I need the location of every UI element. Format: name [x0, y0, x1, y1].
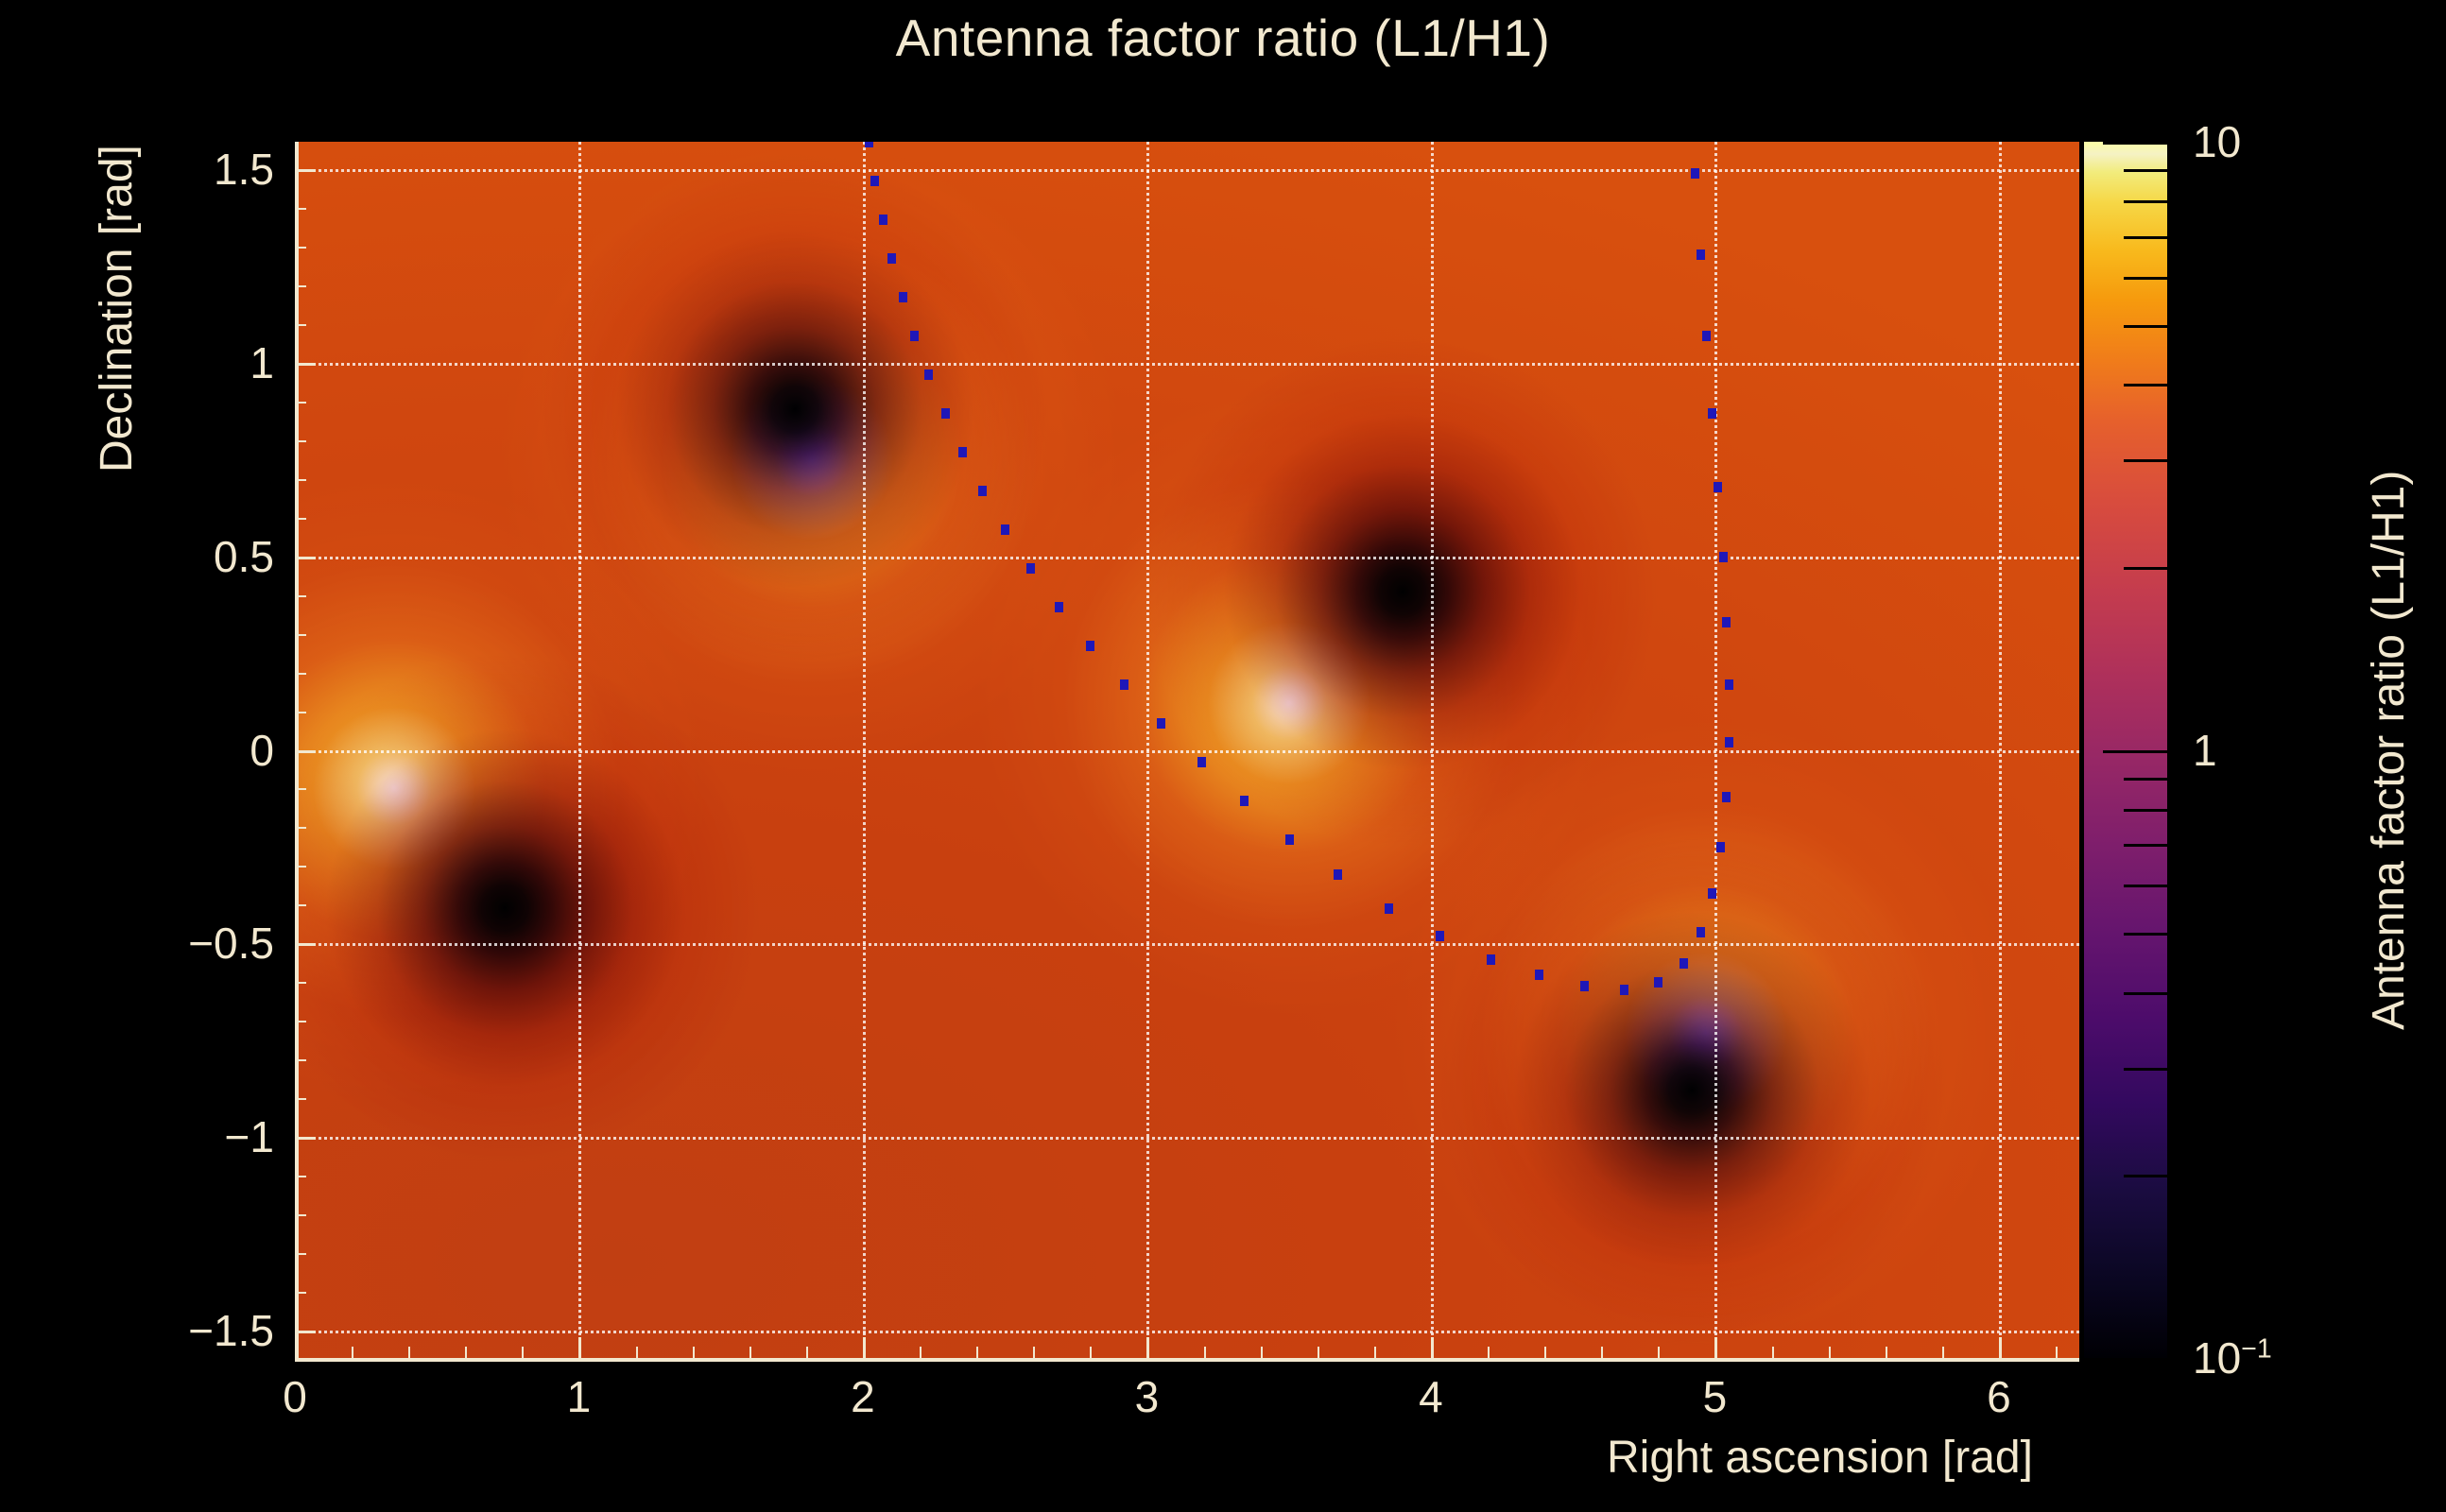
curve-point: [1691, 168, 1699, 179]
curve-point: [1157, 718, 1165, 729]
x-tick-minor: [1886, 1347, 1887, 1358]
colorbar-tick-minor: [2124, 992, 2167, 995]
x-tick-minor: [465, 1347, 467, 1358]
x-tick-minor: [1942, 1347, 1944, 1358]
y-tick-major: [295, 1137, 316, 1140]
y-tick-minor: [295, 247, 306, 249]
curve-point: [1722, 617, 1731, 627]
x-tick-minor: [976, 1347, 978, 1358]
curve-point: [1580, 981, 1589, 991]
x-tick-minor: [1658, 1347, 1660, 1358]
curve-point: [924, 369, 933, 380]
y-tick-minor: [295, 595, 306, 597]
x-tick-minor: [352, 1347, 353, 1358]
colorbar-tick-minor: [2124, 236, 2167, 239]
y-tick-minor: [295, 1253, 306, 1255]
y-tick-minor: [295, 402, 306, 404]
curve-point: [958, 447, 967, 457]
x-tick-minor: [1261, 1347, 1263, 1358]
x-tick-minor: [1033, 1347, 1035, 1358]
x-tick-minor: [1544, 1347, 1546, 1358]
curve-point: [1654, 977, 1662, 988]
y-tick-minor: [295, 673, 306, 675]
x-tick-label: 1: [567, 1371, 592, 1422]
x-tick-minor: [1318, 1347, 1319, 1358]
colorbar-tick-minor: [2124, 1175, 2167, 1177]
plot-canvas: Antenna factor ratio (L1/H1) 0123456−1.5…: [0, 0, 2446, 1512]
curve-point: [1385, 903, 1393, 914]
colorbar-tick-minor: [2124, 567, 2167, 570]
colorbar-tick-minor: [2124, 459, 2167, 462]
colorbar-label-bottom: 10−1: [2193, 1332, 2272, 1383]
y-tick-minor: [295, 1098, 306, 1100]
curve-point: [1055, 602, 1063, 612]
x-tick-minor: [1829, 1347, 1831, 1358]
y-tick-minor: [295, 866, 306, 868]
curve-point: [870, 176, 879, 186]
y-tick-minor: [295, 285, 306, 287]
y-tick-major: [295, 169, 316, 172]
y-tick-minor: [295, 1176, 306, 1177]
y-tick-label: −0.5: [151, 918, 274, 969]
curve-point: [887, 253, 896, 264]
curve-point: [1702, 331, 1711, 341]
curve-point: [1197, 757, 1206, 767]
curve-point: [1620, 985, 1628, 995]
x-tick-label: 5: [1703, 1371, 1728, 1422]
curve-point: [1001, 524, 1009, 535]
y-tick-major: [295, 363, 316, 366]
x-tick-minor: [1772, 1347, 1774, 1358]
x-tick-label: 2: [851, 1371, 875, 1422]
curve-point: [1436, 931, 1444, 941]
y-tick-label: −1.5: [151, 1305, 274, 1356]
curve-point: [1086, 641, 1094, 651]
x-tick-major: [1714, 1337, 1717, 1358]
x-tick-label: 6: [1987, 1371, 2011, 1422]
x-tick-minor: [2056, 1347, 2058, 1358]
curve-point: [910, 331, 919, 341]
x-tick-major: [1999, 1337, 2002, 1358]
x-tick-minor: [920, 1347, 922, 1358]
x-tick-minor: [693, 1347, 695, 1358]
y-tick-major: [295, 943, 316, 946]
x-tick-minor: [749, 1347, 751, 1358]
curve-point: [941, 408, 950, 419]
curve-point: [1708, 888, 1716, 899]
curve-point: [1725, 679, 1733, 690]
x-tick-major: [295, 1337, 298, 1358]
x-tick-minor: [1090, 1347, 1092, 1358]
x-tick-major: [1146, 1337, 1149, 1358]
x-tick-minor: [806, 1347, 808, 1358]
x-tick-minor: [1374, 1347, 1376, 1358]
y-tick-major: [295, 750, 316, 753]
colorbar-label-mid: 1: [2193, 725, 2217, 776]
y-tick-minor: [295, 518, 306, 520]
x-tick-minor: [522, 1347, 524, 1358]
y-tick-minor: [295, 1021, 306, 1022]
colorbar-label-top: 10: [2193, 116, 2241, 167]
y-tick-minor: [295, 324, 306, 326]
y-tick-label: −1: [151, 1111, 274, 1162]
curve-point: [1487, 954, 1495, 965]
curve-point: [1722, 792, 1731, 802]
colorbar-tick-minor: [2124, 325, 2167, 328]
curve-point: [1026, 563, 1035, 574]
colorbar-tick-minor: [2124, 169, 2167, 172]
colorbar-tick-major: [2103, 142, 2167, 145]
colorbar-tick-minor: [2124, 844, 2167, 847]
x-tick-minor: [1488, 1347, 1490, 1358]
x-axis-line: [295, 1358, 2079, 1362]
x-tick-label: 4: [1419, 1371, 1443, 1422]
y-tick-minor: [295, 982, 306, 984]
y-tick-minor: [295, 479, 306, 481]
x-tick-minor: [408, 1347, 410, 1358]
x-tick-major: [863, 1337, 866, 1358]
colorbar-tick-minor: [2124, 778, 2167, 781]
colorbar-title: Antenna factor ratio (L1/H1): [2363, 471, 2415, 1030]
x-tick-major: [578, 1337, 581, 1358]
y-tick-minor: [295, 788, 306, 790]
curve-point: [1285, 834, 1294, 845]
colorbar-tick-major: [2103, 1358, 2167, 1361]
curve-point: [1535, 970, 1543, 980]
colorbar-tick-minor: [2124, 384, 2167, 387]
page-title: Antenna factor ratio (L1/H1): [0, 8, 2446, 68]
y-tick-minor: [295, 1214, 306, 1216]
galactic-plane-curve: [295, 142, 2079, 1358]
y-tick-major: [295, 1331, 316, 1333]
y-tick-minor: [295, 634, 306, 636]
colorbar-tick-minor: [2124, 885, 2167, 887]
y-tick-label: 0.5: [151, 531, 274, 582]
curve-point: [1240, 796, 1249, 806]
colorbar-tick-minor: [2124, 200, 2167, 203]
curve-point: [1716, 842, 1725, 852]
heatmap-plot-area: [295, 142, 2079, 1358]
y-tick-minor: [295, 827, 306, 829]
curve-point: [1120, 679, 1128, 690]
x-axis-title: Right ascension [rad]: [1607, 1432, 2033, 1484]
curve-point: [1714, 482, 1722, 492]
y-tick-minor: [295, 208, 306, 210]
curve-point: [1725, 737, 1733, 747]
x-tick-minor: [1204, 1347, 1206, 1358]
curve-point: [899, 292, 907, 302]
colorbar-tick-minor: [2124, 1068, 2167, 1071]
y-tick-label: 0: [151, 725, 274, 776]
y-axis-title: Declination [rad]: [91, 145, 143, 472]
curve-point: [1697, 249, 1705, 260]
y-tick-minor: [295, 1292, 306, 1294]
y-tick-minor: [295, 712, 306, 713]
curve-point: [1334, 869, 1342, 880]
x-tick-major: [1431, 1337, 1434, 1358]
y-tick-minor: [295, 1059, 306, 1061]
colorbar-tick-minor: [2124, 277, 2167, 280]
colorbar-tick-minor: [2124, 933, 2167, 936]
y-tick-minor: [295, 904, 306, 906]
x-tick-minor: [636, 1347, 638, 1358]
curve-point: [865, 142, 873, 147]
x-tick-minor: [1601, 1347, 1603, 1358]
curve-point: [1719, 552, 1728, 562]
y-tick-label: 1: [151, 337, 274, 388]
curve-point: [1708, 408, 1716, 419]
x-tick-label: 3: [1135, 1371, 1160, 1422]
colorbar-tick-minor: [2124, 809, 2167, 812]
curve-point: [978, 486, 987, 496]
colorbar-tick-major: [2103, 750, 2167, 753]
y-tick-minor: [295, 440, 306, 442]
y-tick-label: 1.5: [151, 144, 274, 195]
curve-point: [1697, 927, 1705, 937]
curve-point: [879, 215, 887, 225]
x-tick-label: 0: [283, 1371, 307, 1422]
curve-point: [1679, 958, 1688, 969]
y-tick-major: [295, 557, 316, 559]
